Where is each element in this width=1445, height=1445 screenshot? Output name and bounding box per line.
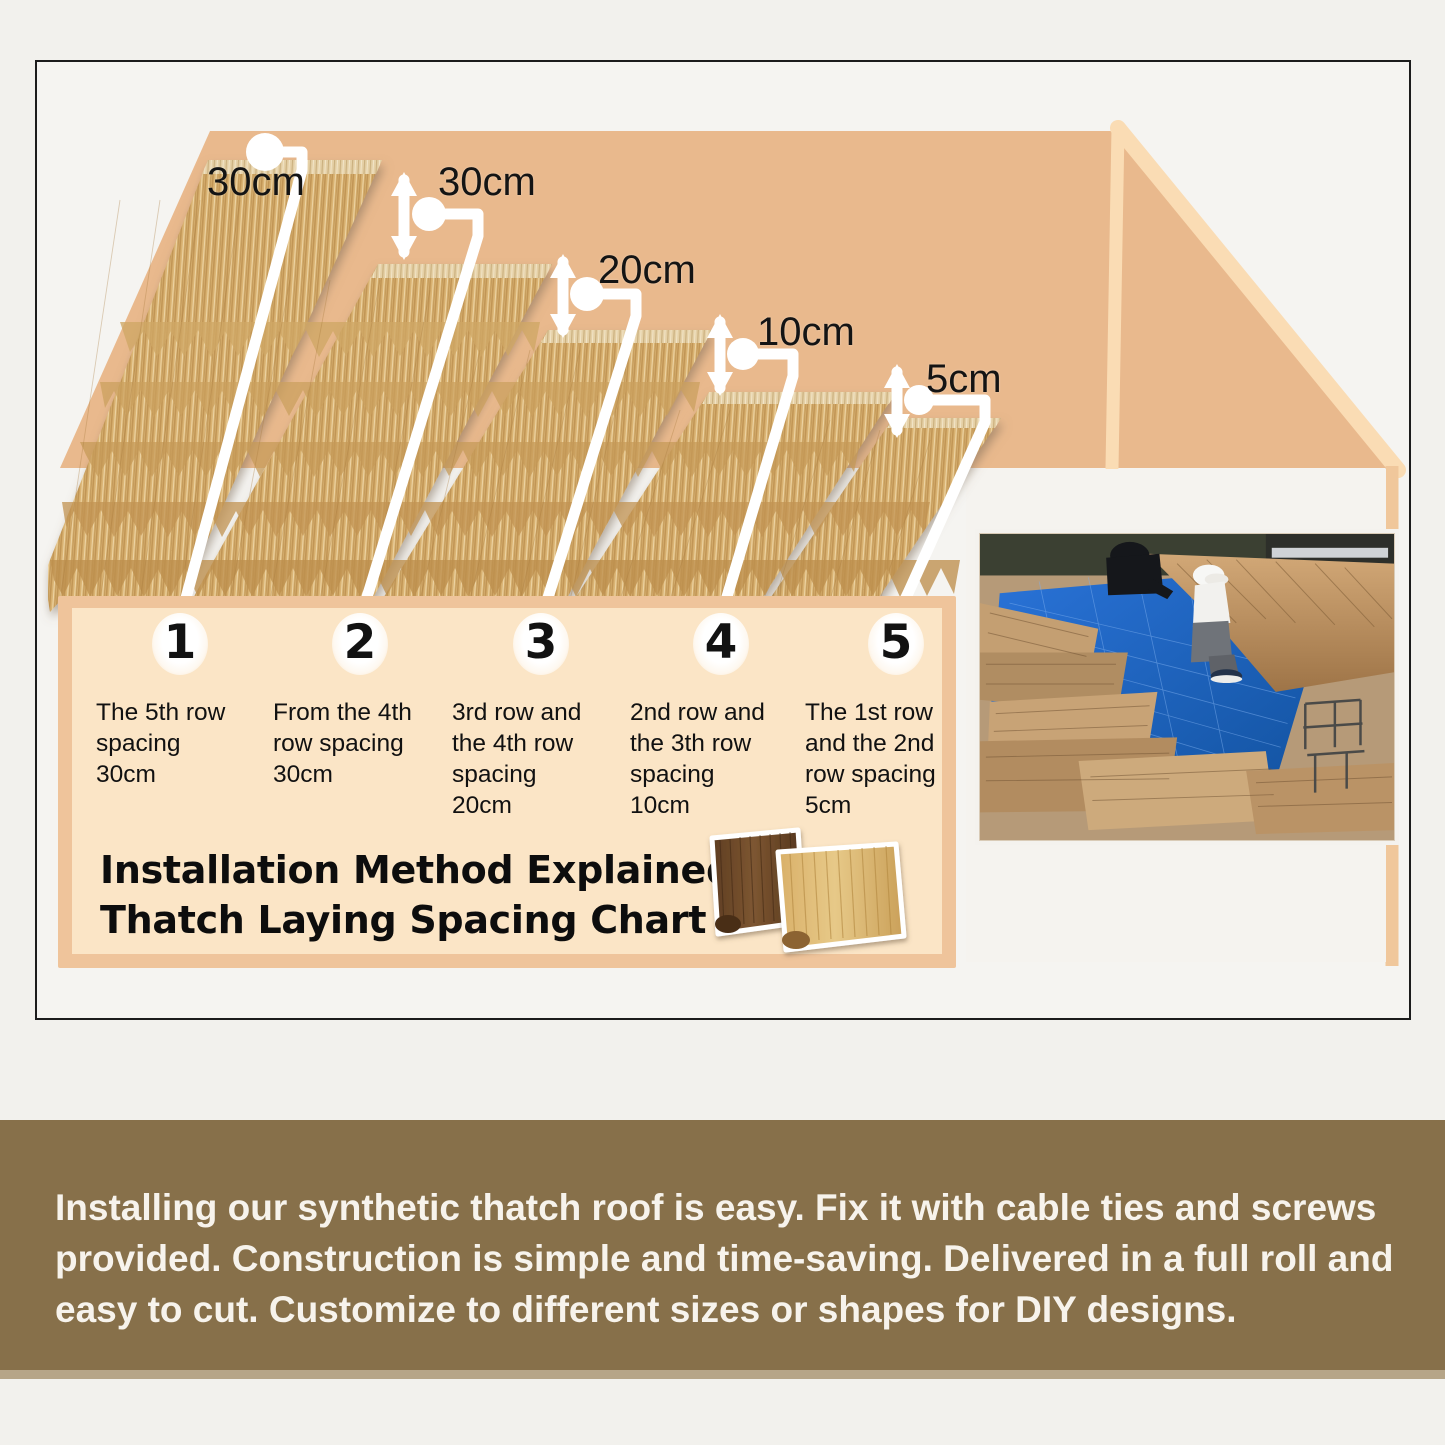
bottom-banner-strip — [0, 1370, 1445, 1379]
step-badge-5: 5 — [868, 613, 924, 675]
dimension-label-30cm-b: 30cm — [438, 160, 536, 205]
step-caption-2: From the 4th row spacing 30cm — [273, 697, 435, 790]
bottom-banner-text: Installing our synthetic thatch roof is … — [55, 1182, 1395, 1335]
dimension-label-30cm-a: 30cm — [207, 160, 305, 205]
step-badge-1: 1 — [152, 613, 208, 675]
dimension-label-5cm: 5cm — [926, 357, 1002, 402]
step-badge-4: 4 — [693, 613, 749, 675]
installation-photo — [979, 533, 1395, 841]
step-badge-2: 2 — [332, 613, 388, 675]
installation-photo-frame — [975, 529, 1399, 845]
step-caption-4: 2nd row and the 3th row spacing 10cm — [630, 697, 792, 821]
step-caption-5: The 1st row and the 2nd row spacing 5cm — [805, 697, 967, 821]
dimension-label-20cm: 20cm — [598, 248, 696, 293]
step-badge-3: 3 — [513, 613, 569, 675]
page-root: 30cm 30cm 20cm 10cm 5cm 1 2 3 4 5 The 5t… — [0, 0, 1445, 1445]
step-caption-3: 3rd row and the 4th row spacing 20cm — [452, 697, 614, 821]
thatch-sample-rolls — [700, 812, 940, 962]
page-title: Installation Method Explained : Thatch L… — [100, 845, 761, 945]
step-caption-1: The 5th row spacing 30cm — [96, 697, 258, 790]
dimension-label-10cm: 10cm — [757, 310, 855, 355]
